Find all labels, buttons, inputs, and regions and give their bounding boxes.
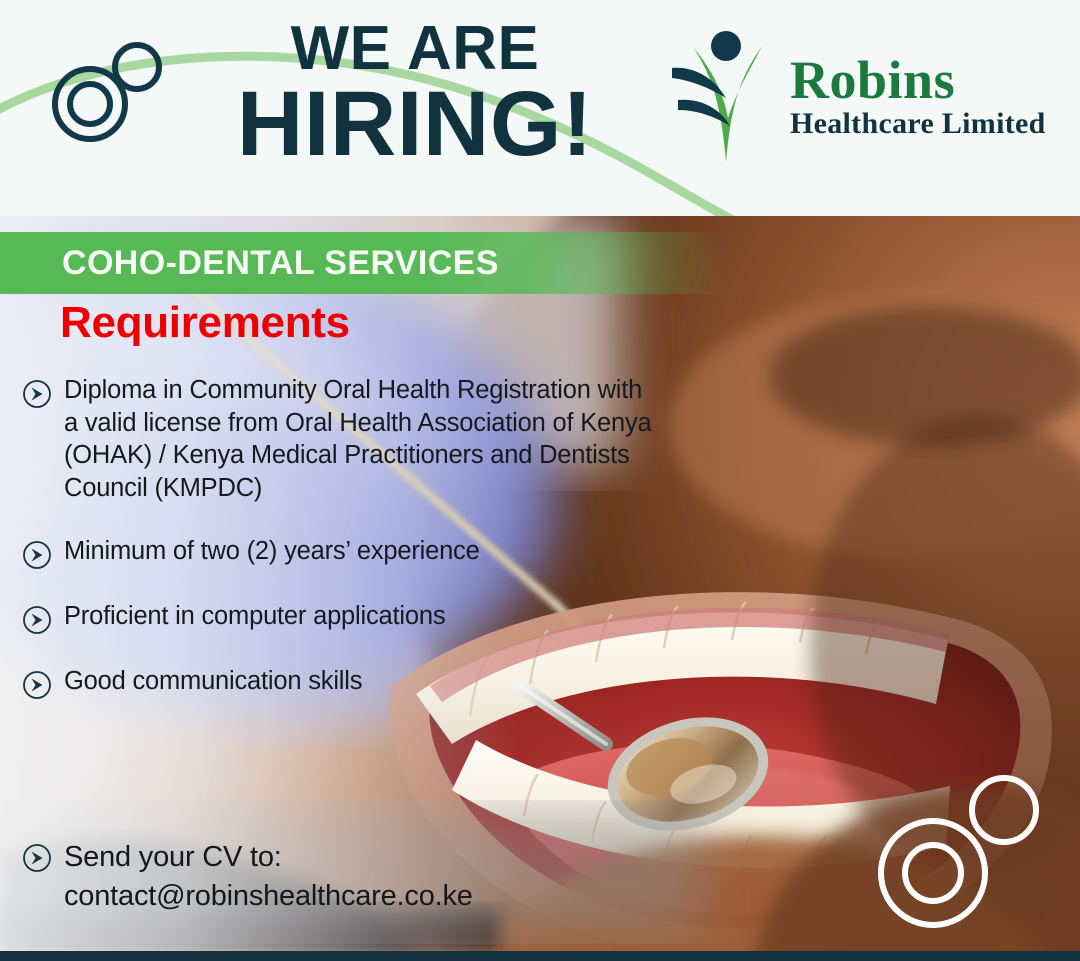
department-banner-title: COHO-DENTAL SERVICES [62,244,499,283]
list-item-text: Minimum of two (2) years’ experience [64,535,480,568]
logo-wordmark: Robins Healthcare Limited [790,53,1046,139]
bullet-line: Minimum of two (2) years’ experience [64,535,480,568]
company-logo: Robins Healthcare Limited [672,26,1046,166]
bullet-line: a valid license from Oral Health Associa… [64,407,652,440]
list-item: Diploma in Community Oral Health Registr… [22,374,760,505]
bullet-line: Proficient in computer applications [64,600,445,633]
contact-block: Send your CV to: contact@robinshealthcar… [22,838,473,915]
list-item-text: Diploma in Community Oral Health Registr… [64,374,652,505]
requirements-section: Requirements Diploma in Community Oral H… [0,300,760,730]
concentric-circles-icon [46,36,166,146]
cv-instruction: Send your CV to: [64,838,473,877]
logo-company-subtitle: Healthcare Limited [790,109,1046,139]
chevron-right-circle-icon [22,670,52,700]
headline-hiring: HIRING! [195,76,635,173]
contact-text: Send your CV to: contact@robinshealthcar… [64,838,473,915]
chevron-right-circle-icon [22,843,52,873]
robins-logo-mark-icon [672,26,780,166]
list-item-text: Good communication skills [64,665,362,698]
bullet-line: (OHAK) / Kenya Medical Practitioners and… [64,439,652,472]
logo-company-name: Robins [790,53,1046,107]
requirements-heading: Requirements [60,300,760,346]
department-banner: COHO-DENTAL SERVICES [0,232,720,294]
list-item-text: Proficient in computer applications [64,600,445,633]
poster-header: WE ARE HIRING! Robins Healthcare Limited [0,0,1080,216]
bullet-line: Good communication skills [64,665,362,698]
hiring-poster: WE ARE HIRING! Robins Healthcare Limited… [0,0,1080,961]
list-item: Proficient in computer applications [22,600,760,635]
chevron-right-circle-icon [22,379,52,409]
chevron-right-circle-icon [22,605,52,635]
bullet-line: Diploma in Community Oral Health Registr… [64,374,652,407]
list-item: Good communication skills [22,665,760,700]
contact-email[interactable]: contact@robinshealthcare.co.ke [64,877,473,916]
requirements-list: Diploma in Community Oral Health Registr… [0,374,760,700]
chevron-right-circle-icon [22,540,52,570]
bottom-accent-bar [0,951,1080,961]
headline-block: WE ARE HIRING! [195,18,635,173]
headline-we-are: WE ARE [195,18,635,80]
list-item: Minimum of two (2) years’ experience [22,535,760,570]
bullet-line: Council (KMPDC) [64,472,652,505]
